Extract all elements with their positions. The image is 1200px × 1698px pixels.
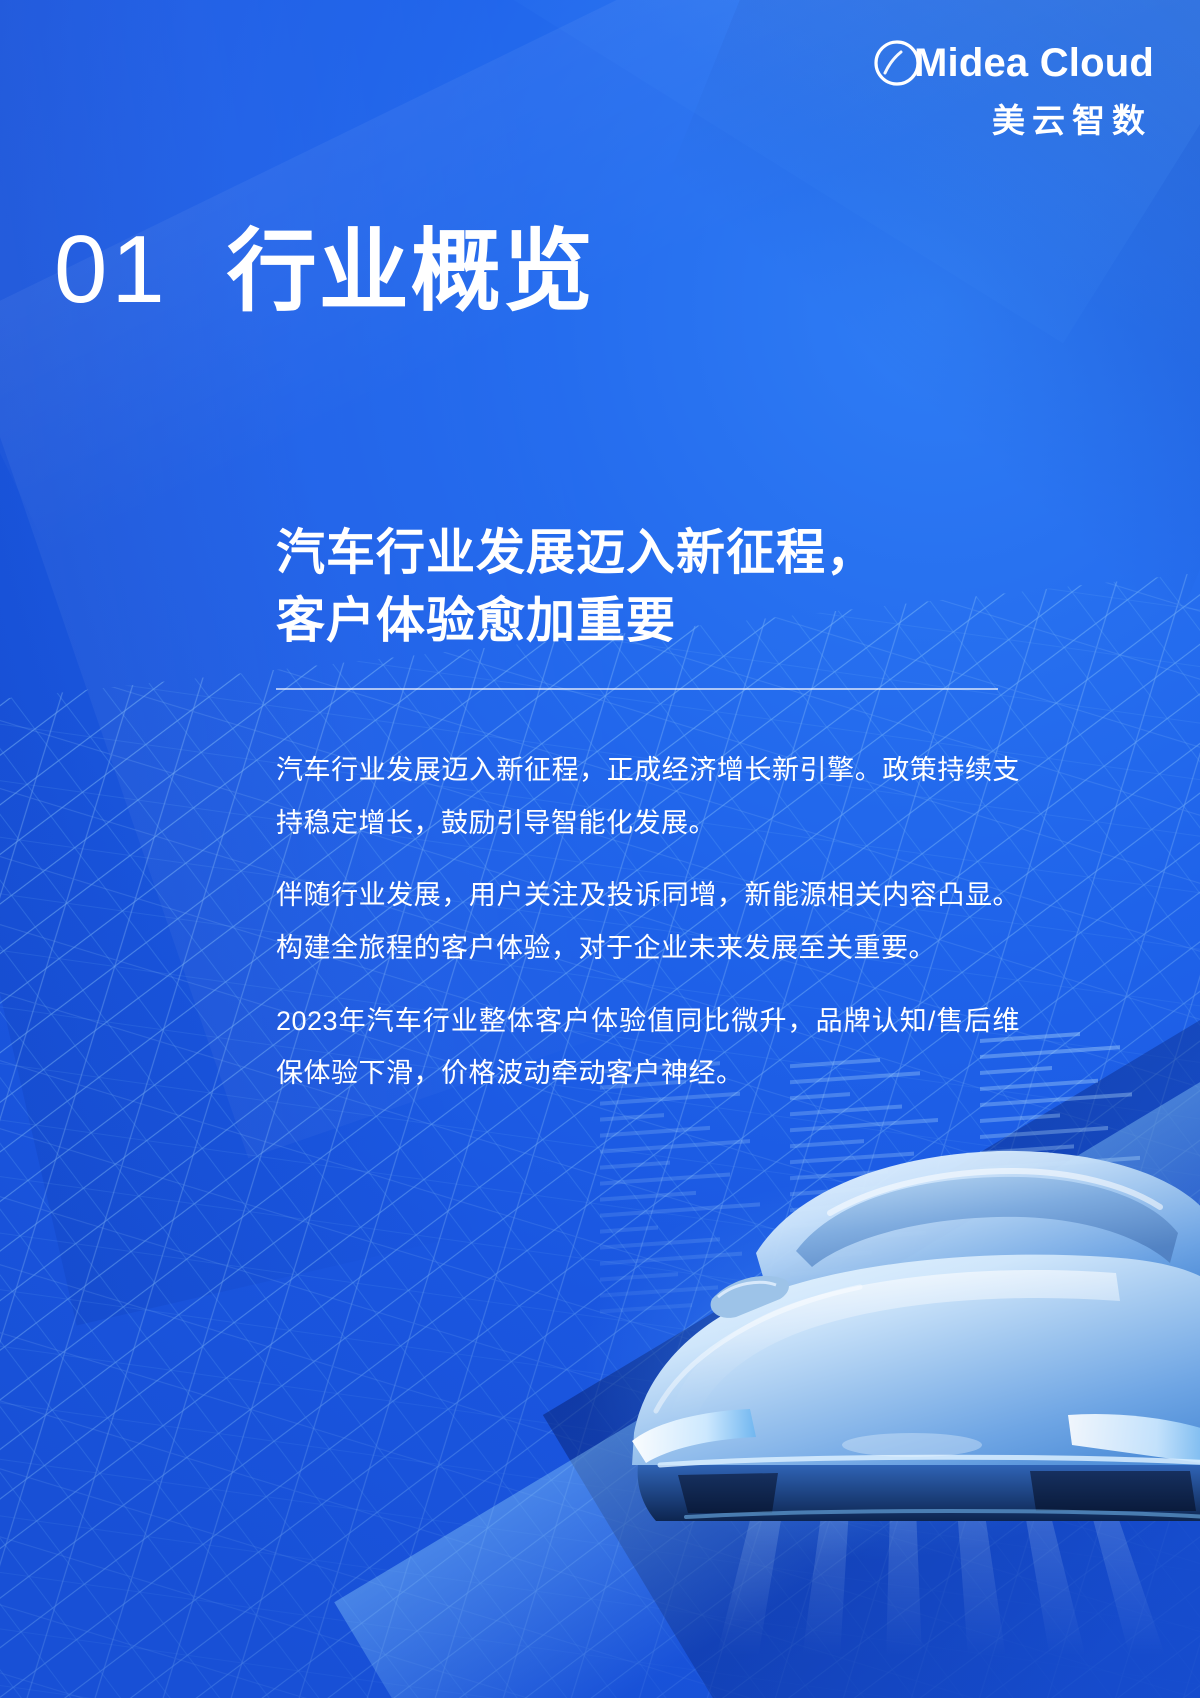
body-text: 汽车行业发展迈入新征程，正成经济增长新引擎。政策持续支持稳定增长，鼓励引导智能化… — [276, 744, 1020, 1100]
body-paragraph: 2023年汽车行业整体客户体验值同比微升，品牌认知/售后维保体验下滑，价格波动牵… — [276, 995, 1020, 1100]
subtitle-line-1: 汽车行业发展迈入新征程， — [276, 520, 1016, 588]
body-paragraph: 伴随行业发展，用户关注及投诉同增，新能源相关内容凸显。构建全旅程的客户体验，对于… — [276, 869, 1020, 974]
brand-name-cn: 美云智数 — [992, 104, 1152, 137]
slide-subtitle: 汽车行业发展迈入新征程， 客户体验愈加重要 — [276, 520, 1016, 655]
page-content: Midea Cloud 美云智数 01 行业概览 汽车行业发展迈入新征程， 客户… — [0, 0, 1200, 1698]
section-number: 01 — [54, 222, 169, 318]
midea-cloud-circle-mark-icon — [870, 36, 924, 90]
brand-logo-row: Midea Cloud — [870, 36, 1154, 90]
section-heading: 01 行业概览 — [54, 222, 595, 318]
brand-name-en: Midea Cloud — [914, 43, 1154, 83]
body-paragraph: 汽车行业发展迈入新征程，正成经济增长新引擎。政策持续支持稳定增长，鼓励引导智能化… — [276, 744, 1020, 849]
brand-logo: Midea Cloud 美云智数 — [870, 36, 1154, 137]
section-title: 行业概览 — [227, 227, 595, 317]
subtitle-line-2: 客户体验愈加重要 — [276, 588, 1016, 656]
divider-rule — [276, 688, 998, 690]
